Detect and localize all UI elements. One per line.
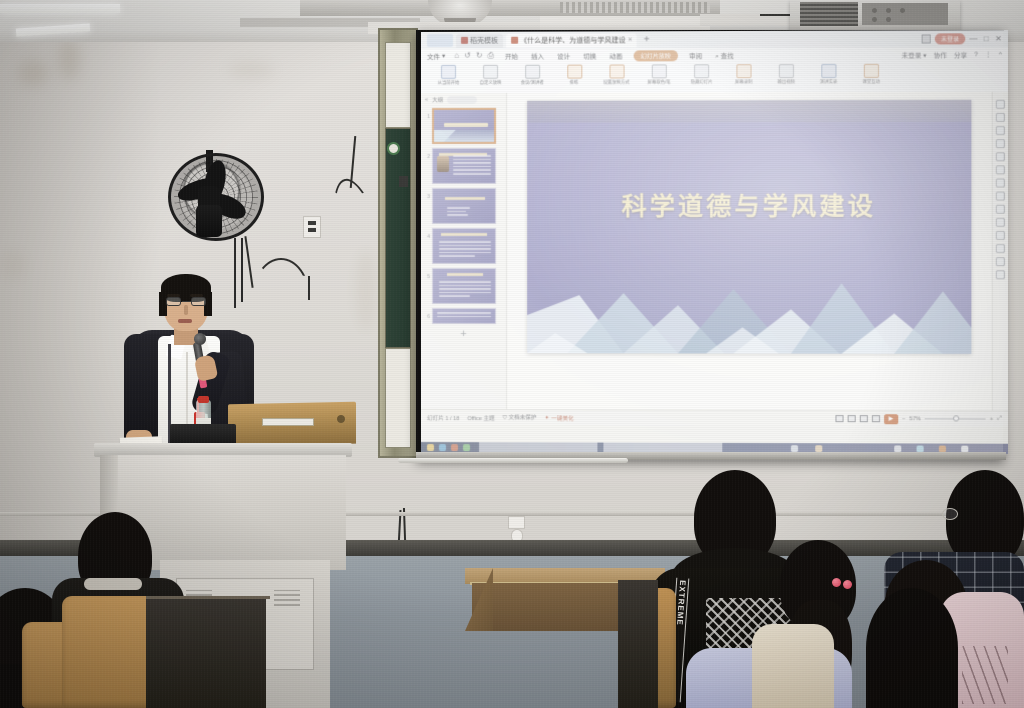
window-controls[interactable]: — □ ✕ [969,34,1004,43]
podium-desk-plate [262,418,314,426]
screen-mount-bracket [540,16,710,30]
ribbon-button-label: 排练 [570,80,579,86]
fan-pull-cord[interactable] [234,238,236,308]
slide-number: 6 [424,308,430,320]
projector-led [872,8,877,13]
ribbon-button-setup-show[interactable]: 设置放映方式 [595,64,637,85]
speaker-mouth [178,319,192,323]
ribbon-share-button[interactable]: 分享 [954,49,967,59]
slide-thumbnail-pane[interactable]: « 大纲 1 2 [421,93,507,409]
search-icon: ⌕ [715,53,719,60]
thumb-photo [437,156,449,172]
slide-thumbnail-2[interactable] [432,148,496,184]
magic-icon: ✦ [545,415,550,421]
hair-tie [843,580,852,589]
chalkboard-handle-icon[interactable] [387,142,400,155]
slide-polygon-artwork [527,275,971,354]
zoom-slider-handle[interactable] [953,415,959,421]
ribbon-tab-insert[interactable]: 插入 [529,51,546,61]
wall-outlet [303,216,321,238]
outlet-slot [308,221,316,225]
slide-number: 2 [424,148,430,160]
play-current-icon [441,65,456,79]
taskbar-icon[interactable] [439,444,446,451]
thumbnail-item[interactable]: 1 [421,106,506,146]
thumb-heading [445,197,485,200]
slide-thumbnail-1[interactable] [432,108,496,144]
ribbon-search-button[interactable]: ⌕ 查找 [713,50,736,61]
fan-motor [196,205,222,237]
student-head [866,588,958,708]
ribbon-button-export-video[interactable]: 输出视频 [765,64,807,85]
zoom-in-button[interactable]: + [990,416,993,422]
ribbon-button-interact[interactable]: 课堂互动 [850,64,893,85]
projector-led [886,8,891,13]
fan-power-cable [308,276,310,300]
ribbon-button-label: 屏幕录制 [735,79,753,85]
wps-tab-bar: 稻壳模板 《什么是科学、为道德与学风建设 ✕ + 未登录 — □ ✕ [421,30,1008,49]
more-icon[interactable]: ⋮ [985,50,992,58]
ppt-file-icon [511,37,518,44]
eye-icon[interactable] [996,270,1005,279]
slide-title: 科学道德与学风建设 [527,187,971,223]
ceiling-light [0,4,120,13]
ceiling-vent-icon [560,2,710,13]
export-video-icon [778,64,793,78]
ribbon-tab-review[interactable]: 审阅 [687,50,704,60]
thumbnail-item[interactable]: 2 [421,146,506,186]
tab-docer-template[interactable]: 稻壳模板 [456,33,503,47]
help-icon[interactable]: ? [974,51,978,58]
wps-status-bar: 幻灯片 1 / 18 Office 主题 ⛉ 文档未保护 ✦ 一键美化 ▶ − … [421,409,1008,427]
table-icon[interactable] [996,178,1005,187]
account-button[interactable]: 未登录 [935,33,965,44]
projector-led [872,17,877,22]
ribbon-button-record[interactable]: 屏幕录制 [722,64,764,85]
lectern-vent-icon [274,590,300,606]
taskbar-icon[interactable] [463,444,470,451]
account-label: 未登录 [941,34,959,43]
thumbnail-item[interactable]: 5 [421,266,506,306]
wps-logo-icon[interactable] [427,34,453,47]
file-menu-button[interactable]: 文件▾ [427,51,445,61]
tab-label: 《什么是科学、为道德与学风建设 [520,35,625,45]
image-icon[interactable] [996,113,1005,122]
ribbon-login-button[interactable]: 未登录 ▾ [902,50,927,60]
ribbon-button-presenter[interactable]: 会议/演讲者 [511,65,553,86]
thumb-heading [441,233,487,236]
slide-thumbnail-6[interactable] [432,308,496,324]
wps-ribbon-commands: 从当前开始 自定义放映 会议/演讲者 排练 设置放映方式 屏幕取色/笔 [421,61,1008,93]
thumb-heading [447,273,483,276]
projector-led [900,8,905,13]
slide-number: 5 [424,268,430,280]
ribbon-button-label: 会议/演讲者 [521,80,544,86]
pink-top-graphic [962,646,1008,704]
thumb-title-bar [444,123,488,127]
glasses-lens [191,297,206,306]
slide-thumbnail-4[interactable] [432,228,496,264]
setup-show-icon [609,64,624,78]
collapse-ribbon-icon[interactable]: ^ [999,51,1002,58]
screen-roller-bar [398,458,628,463]
custom-show-icon [483,65,498,79]
wps-workspace: « 大纲 1 2 [421,92,1008,411]
bottle-cap [198,396,209,403]
wall-stain [228,62,274,78]
shield-icon: ⛉ [503,415,507,421]
thumbnail-item[interactable]: 4 [421,226,506,266]
thumb-body-text [439,281,491,299]
settings-icon[interactable] [996,244,1005,253]
glasses-lens [166,297,181,306]
undo-icon[interactable]: ↺ [464,51,471,61]
lecture-hall-photo: 稻壳模板 《什么是科学、为道德与学风建设 ✕ + 未登录 — □ ✕ 文件▾ [0,0,1024,708]
slide-thumbnail-3[interactable] [432,188,496,224]
hide-slide-icon [694,64,709,78]
grid-icon[interactable] [996,231,1005,240]
chalkboard-green-panel [385,128,411,348]
wall-stain [0,250,26,280]
current-slide[interactable]: 科学道德与学风建设 [527,100,971,354]
play-icon[interactable]: ▶ [884,414,898,424]
theme-label[interactable]: Office 主题 [467,414,494,422]
ribbon-tab-design[interactable]: 设计 [555,51,572,61]
live-icon [821,64,836,78]
tab-document[interactable]: 《什么是科学、为道德与学风建设 ✕ [506,33,637,47]
smart-icon[interactable] [996,257,1005,266]
hair-tie [832,578,841,587]
speaker-nose [184,305,188,315]
wall-outlet [508,516,525,529]
ribbon-button-play-current[interactable]: 从当前开始 [427,65,469,86]
interact-icon [863,64,878,78]
slide-thumbnail-5[interactable] [432,268,496,304]
lock-icon[interactable] [996,192,1005,201]
projector-vent-icon [800,2,858,26]
protection-label: 文档未保护 [508,415,536,421]
wps-ribbon-tab-row: 文件▾ ⌂ ↺ ↻ ⎙ 开始 插入 设计 切换 动画 幻灯片放映 审阅 ⌕ 查找… [421,47,1008,63]
search-label: 查找 [721,53,734,60]
sorter-view-icon[interactable] [847,415,855,422]
outline-tab-label[interactable]: 大纲 [432,96,443,104]
print-icon[interactable]: ⎙ [488,51,494,61]
rehearse-icon [567,65,582,79]
ribbon-button-custom-show[interactable]: 自定义放映 [469,65,511,86]
status-right-group: ▶ − 57% + ⤢ [835,414,1002,425]
taskbar-icon[interactable] [451,444,458,451]
protection-status[interactable]: ⛉ 文档未保护 [503,413,537,422]
ribbon-tab-slideshow[interactable]: 幻灯片放映 [634,50,678,61]
zoom-level[interactable]: 57% [909,416,920,422]
slide-number: 1 [424,108,430,120]
thumbnail-item[interactable]: 3 [421,186,506,226]
docer-icon [461,37,468,44]
wall-stain [58,40,80,80]
shape-icon[interactable] [996,100,1005,109]
slide-counter: 幻灯片 1 / 18 [427,414,459,422]
tabbar-right-group: 未登录 — □ ✕ [922,33,1008,44]
add-slide-button[interactable]: + [421,326,506,340]
close-icon[interactable]: ✕ [628,36,633,43]
thumbnail-item[interactable]: 6 [421,306,506,326]
thumbnail-pane-header: « 大纲 [421,95,506,106]
ribbon-button-label: 屏幕取色/笔 [647,80,670,86]
thumb-body-text [447,207,485,218]
notes-view-icon[interactable] [872,415,880,422]
new-tab-button[interactable]: + [640,34,654,45]
save-icon[interactable]: ⌂ [454,51,459,61]
chalkboard-panel-top [385,42,411,128]
outlet-slot [308,228,316,232]
ribbon-button-label: 隐藏幻灯片 [690,79,712,85]
wall-stain [356,250,376,330]
ribbon-button-label: 演讲实录 [820,79,838,85]
taskbar-window[interactable] [479,442,597,452]
student-shirt-collar [84,578,142,590]
file-menu-label: 文件 [427,51,440,61]
taskbar-icon[interactable] [427,444,434,451]
desk-edge [146,596,270,599]
ribbon-button-rehearse[interactable]: 排练 [553,65,595,86]
ribbon-button-label: 课堂互动 [862,79,880,85]
zoom-out-button[interactable]: − [902,416,905,422]
fill-icon[interactable] [996,139,1005,148]
ribbon-button-live[interactable]: 演讲实录 [807,64,850,85]
quick-access-toolbar: ⌂ ↺ ↻ ⎙ [454,51,494,61]
beautify-button[interactable]: ✦ 一键美化 [545,414,574,422]
classroom-desk [618,580,658,708]
beautify-label: 一键美化 [551,414,573,422]
align-icon[interactable] [996,205,1005,214]
crop-icon[interactable] [996,126,1005,135]
classroom-desk [146,596,266,708]
slide-number: 4 [424,228,430,240]
zoom-slider[interactable] [925,418,986,419]
ribbon-button-hide-slide[interactable]: 隐藏幻灯片 [680,64,722,85]
ribbon-tab-animation[interactable]: 动画 [607,50,624,60]
ribbon-button-label: 自定义放映 [479,80,501,86]
chalkboard-panel-bottom [385,348,411,448]
thumbnail-search-pill[interactable] [447,96,477,104]
wall-stain [18,60,48,86]
text-icon[interactable] [996,165,1005,174]
normal-view-icon[interactable] [835,415,843,422]
slide-number: 3 [424,188,430,200]
thumb-body-text [439,241,491,259]
glasses-icon [942,508,958,520]
slide-top-band [527,100,971,123]
pen-icon [651,64,666,78]
podium-desk-knob [337,415,345,423]
thumb-body-text [437,312,491,319]
thumb-body-text [453,155,491,177]
student-cream [752,624,834,708]
fit-screen-icon[interactable]: ⤢ [997,415,1002,422]
restore-icon[interactable] [922,34,931,43]
ribbon-button-label: 输出视频 [777,79,795,85]
slide-canvas-pane[interactable]: 科学道德与学风建设 [507,92,992,411]
right-tool-rail[interactable] [992,92,1008,411]
tab-label: 稻壳模板 [470,35,498,45]
ribbon-tab-start[interactable]: 开始 [503,51,520,61]
reading-view-icon[interactable] [860,415,868,422]
ribbon-button-pen[interactable]: 屏幕取色/笔 [638,64,680,85]
wall-junction-box [399,176,408,187]
projector-led [886,17,891,22]
presenter-icon [525,65,540,79]
chevron-left-icon[interactable]: « [425,97,428,103]
thumb-polygon-art [434,130,494,142]
record-icon [736,64,751,78]
ribbon-right-group: 未登录 ▾ 协作 分享 ? ⋮ ^ [902,49,1002,59]
chart-icon[interactable] [996,152,1005,161]
ribbon-button-label: 从当前开始 [437,80,459,86]
ribbon-button-label: 设置放映方式 [603,80,629,86]
ribbon-collab-button[interactable]: 协作 [934,49,947,59]
projection-screen: 稻壳模板 《什么是科学、为道德与学风建设 ✕ + 未登录 — □ ✕ 文件▾ [421,30,1008,454]
list-icon[interactable] [996,218,1005,227]
redo-icon[interactable]: ↻ [476,51,483,61]
glasses-bridge [182,301,191,302]
ribbon-tab-transition[interactable]: 切换 [581,50,598,60]
fan-pull-cord[interactable] [241,238,243,302]
